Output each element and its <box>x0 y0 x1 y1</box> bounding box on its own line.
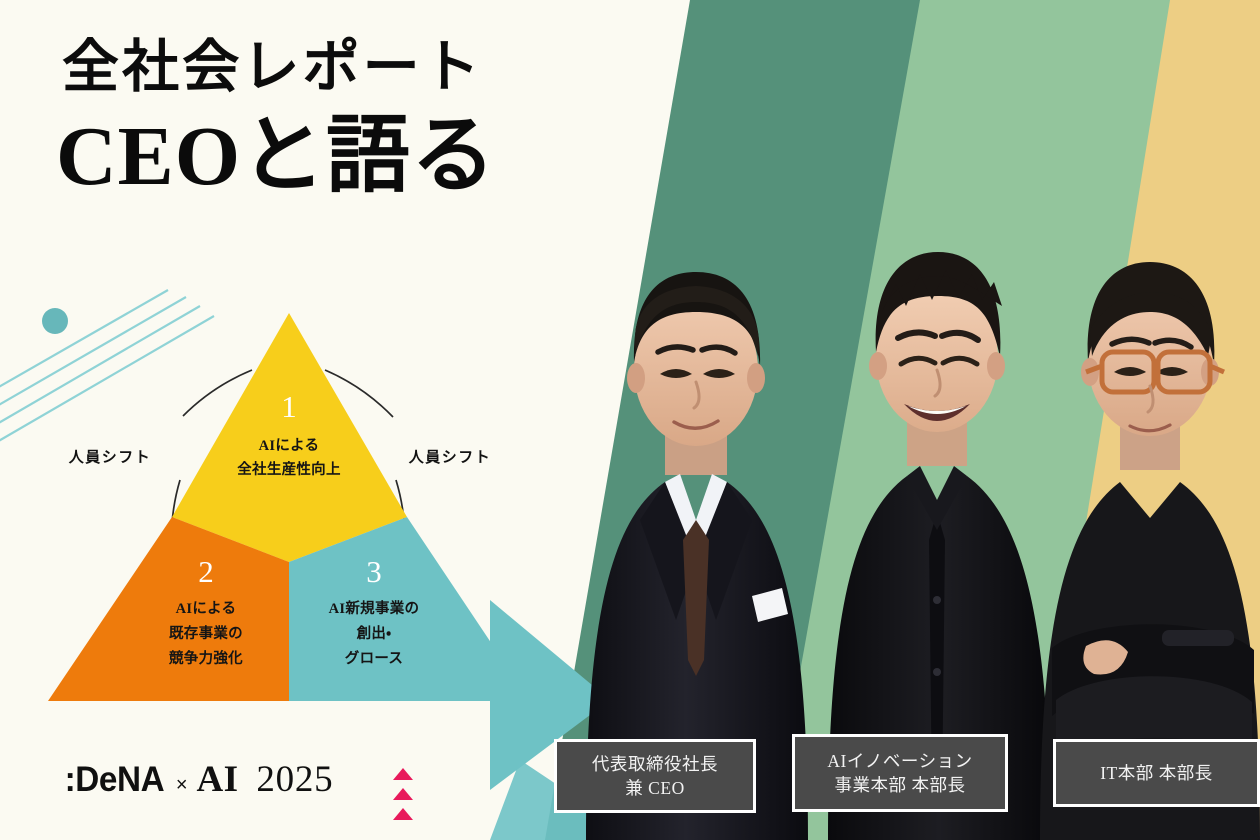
footer-brand-lockup: :DeNA × AI 2025 <box>62 758 333 801</box>
dena-logo: :DeNA <box>65 760 165 800</box>
segment-2-label: AIによる 既存事業の 競争力強化 <box>168 600 243 667</box>
nameplate-ai-innovation: AIイノベーション 事業本部 本部長 <box>792 734 1008 812</box>
segment-3-number: 3 <box>366 554 382 589</box>
times-symbol: × <box>176 774 188 797</box>
svg-text:競争力強化: 競争力強化 <box>168 649 243 667</box>
svg-text:創出・: 創出・ <box>357 624 392 642</box>
arc-label-right: 人員シフト <box>408 449 492 466</box>
nameplate-ai-line-1: AIイノベーション <box>827 749 972 773</box>
nameplate-ceo-line-2: 兼 CEO <box>625 776 685 800</box>
svg-text:AI新規事業の: AI新規事業の <box>329 599 420 617</box>
nameplate-it-head: IT本部 本部長 <box>1053 739 1260 807</box>
svg-text:AIによる: AIによる <box>259 437 320 454</box>
segment-2-number: 2 <box>198 554 214 589</box>
year-label: 2025 <box>256 758 333 801</box>
nameplate-ceo: 代表取締役社長 兼 CEO <box>554 739 756 813</box>
photo-band-background <box>490 0 1260 840</box>
svg-text:AIによる: AIによる <box>176 600 237 617</box>
ai-logo: AI <box>197 758 239 801</box>
pink-triangle-stack-decor <box>393 768 423 828</box>
nameplate-ai-line-2: 事業本部 本部長 <box>834 773 965 797</box>
svg-text:全社生産性向上: 全社生産性向上 <box>237 460 341 478</box>
nameplate-it-line-1: IT本部 本部長 <box>1100 761 1213 785</box>
segment-1-number: 1 <box>281 389 297 424</box>
nameplate-ceo-line-1: 代表取締役社長 <box>592 752 718 776</box>
poster-canvas: 全社会レポート CEOと語るAI戦略の最前線 1 2 3 AIによる 全社生産性… <box>0 0 1260 840</box>
svg-text:既存事業の: 既存事業の <box>169 624 243 642</box>
arc-label-left: 人員シフト <box>68 449 152 466</box>
svg-text:グロース: グロース <box>345 649 403 667</box>
executives-photo-panel: 代表取締役社長 兼 CEO AIイノベーション 事業本部 本部長 IT本部 本部… <box>490 0 1260 840</box>
